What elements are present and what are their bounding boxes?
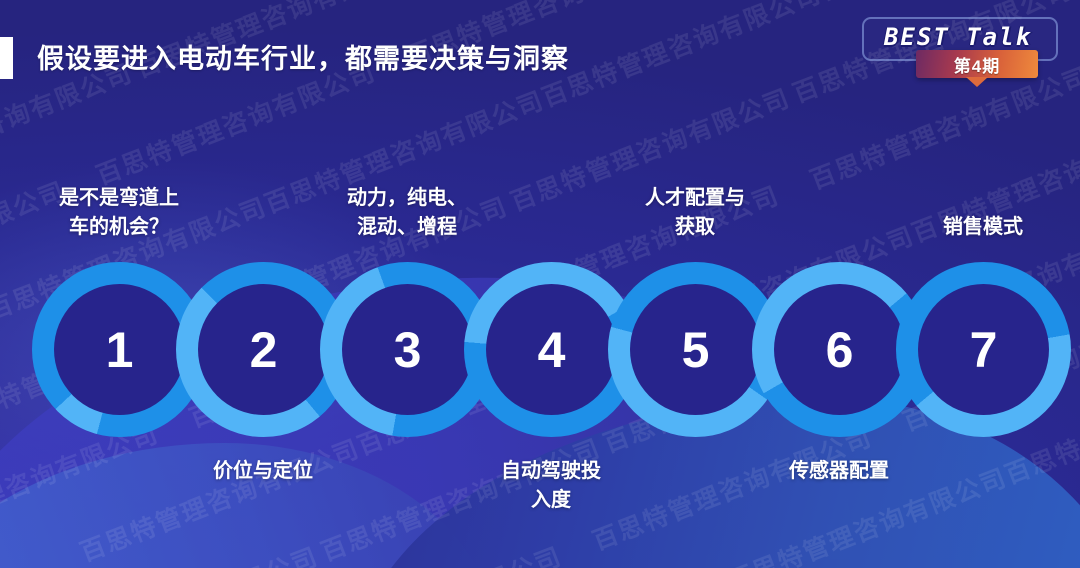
step-number: 6 (826, 325, 854, 375)
step-ring-inner: 2 (198, 284, 329, 415)
title-accent-bar (0, 37, 13, 79)
step-ring-inner: 5 (630, 284, 761, 415)
step-label-2: 价位与定位 (158, 457, 368, 486)
step-number: 7 (970, 325, 998, 375)
step-number: 5 (682, 325, 710, 375)
step-ring: 7 (896, 262, 1071, 437)
step-ring-inner: 7 (918, 284, 1049, 415)
best-talk-logo: BEST Talk 第4期 (862, 17, 1054, 89)
logo-episode-badge: 第4期 (916, 50, 1038, 78)
logo-episode-label: 第4期 (954, 52, 1000, 77)
step-label-3: 动力，纯电、 混动、增程 (302, 184, 512, 242)
step-ring-inner: 6 (774, 284, 905, 415)
step-number: 3 (394, 325, 422, 375)
step-number: 1 (106, 325, 134, 375)
step-label-5: 人才配置与 获取 (590, 184, 800, 242)
steps-row: 1是不是弯道上 车的机会？2价位与定位3动力，纯电、 混动、增程4自动驾驶投 入… (32, 262, 1052, 437)
step-label-1: 是不是弯道上 车的机会？ (14, 184, 224, 242)
step-number: 4 (538, 325, 566, 375)
page-title: 假设要进入电动车行业，都需要决策与洞察 (37, 38, 569, 80)
slide-canvas: 百思特管理咨询有限公司百思特管理咨询有限公司百思特管理咨询有限公司百思特管理咨询… (0, 0, 1080, 568)
step-ring-inner: 4 (486, 284, 617, 415)
step-node-7[interactable]: 7 (896, 262, 1071, 437)
step-number: 2 (250, 325, 278, 375)
step-label-7: 销售模式 (878, 213, 1080, 242)
step-label-4: 自动驾驶投 入度 (446, 457, 656, 515)
step-ring-inner: 3 (342, 284, 473, 415)
step-label-6: 传感器配置 (734, 457, 944, 486)
step-ring-inner: 1 (54, 284, 185, 415)
